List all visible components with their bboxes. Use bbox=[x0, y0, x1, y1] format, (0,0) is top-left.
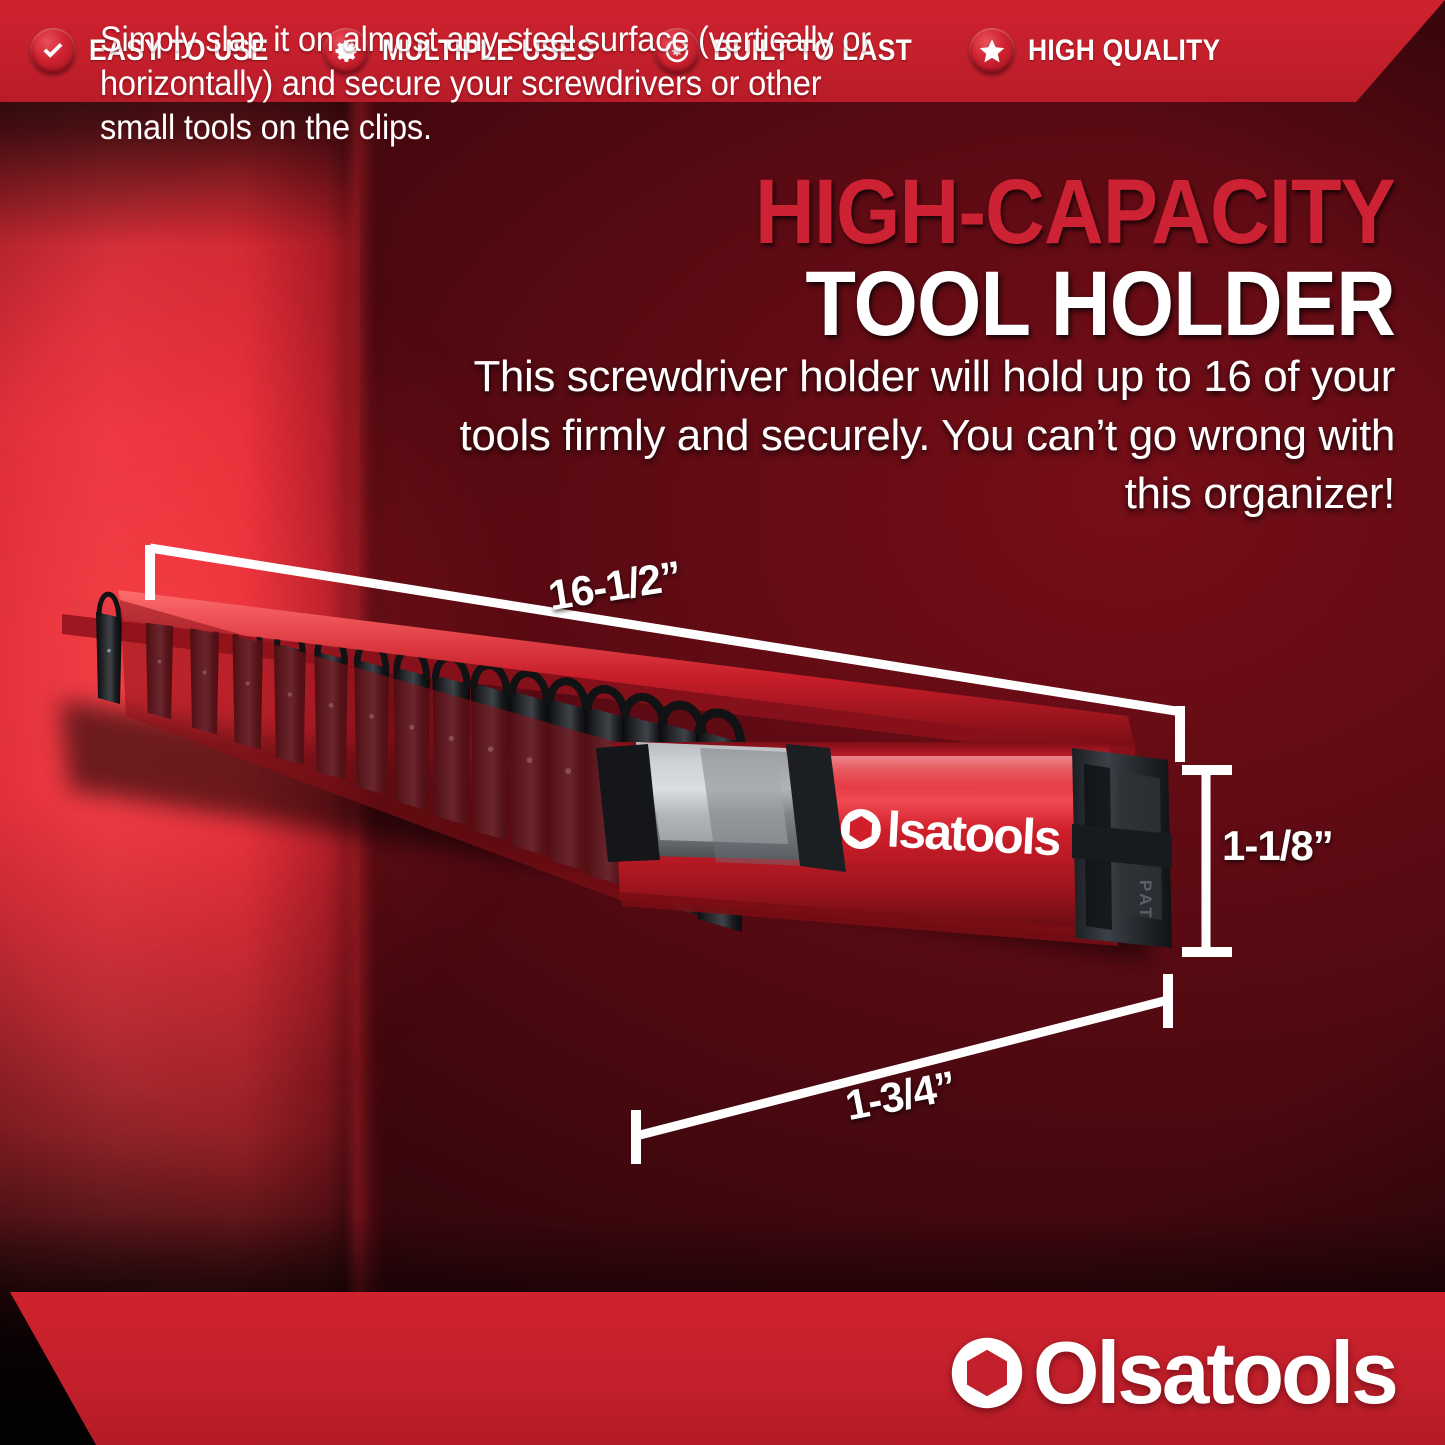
brand-logo-wordmark: Olsatools bbox=[1033, 1338, 1396, 1408]
dimension-label-height: 1-1/8” bbox=[1222, 822, 1333, 870]
olsatools-hex-o-icon bbox=[947, 1333, 1027, 1413]
feature-label: HIGH QUALITY bbox=[1028, 34, 1220, 68]
product-marketing-image: PAT lsatools 16-1/2” 1-1/8” bbox=[0, 0, 1445, 1445]
headline-block: HIGH-CAPACITY TOOL HOLDER bbox=[495, 168, 1395, 350]
headline-line-1: HIGH-CAPACITY bbox=[585, 168, 1395, 256]
star-icon bbox=[969, 28, 1015, 74]
check-circle-icon bbox=[30, 28, 76, 74]
feature-item-high-quality: HIGH QUALITY bbox=[969, 28, 1277, 74]
headline-line-2: TOOL HOLDER bbox=[585, 258, 1395, 350]
subcopy-text: This screwdriver holder will hold up to … bbox=[435, 348, 1395, 524]
brand-logo: Olsatools bbox=[947, 1333, 1407, 1413]
bottom-banner-text: Simply slap it on almost any steel surfa… bbox=[100, 18, 900, 150]
